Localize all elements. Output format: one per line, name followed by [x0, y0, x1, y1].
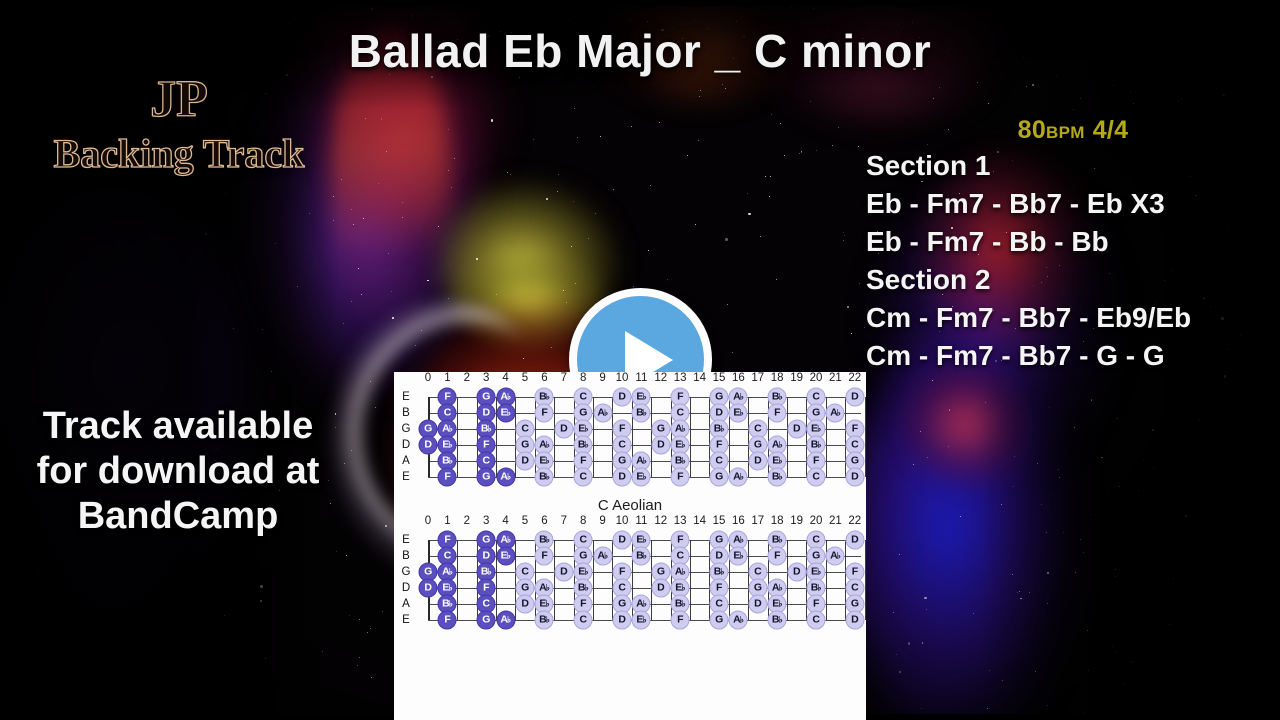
string-label-2: B: [396, 550, 416, 562]
fret-number-4: 4: [496, 372, 516, 384]
fret-number-9: 9: [593, 515, 613, 527]
chord-line-2: Eb - Fm7 - Bb7 - Eb X3: [866, 185, 1280, 223]
string-label-5: A: [396, 598, 416, 610]
fret-note-top-s6-f1: F: [438, 468, 457, 487]
string-label-column-top: EBGDAE: [396, 389, 416, 493]
string-label-3: G: [396, 566, 416, 578]
tempo-unit: BPM: [1046, 123, 1085, 142]
fret-note-bot-s4-f0: D: [419, 579, 438, 598]
fret-note-top-s2-f9: A♭: [593, 404, 612, 423]
fret-number-13: 13: [670, 515, 690, 527]
letterbox-bar-top: [0, 0, 1280, 6]
page-title: Ballad Eb Major _ C minor: [0, 24, 1280, 78]
fret-note-bot-s5-f17: D: [748, 595, 767, 614]
fret-note-bot-s6-f16: A♭: [729, 611, 748, 630]
chord-line-1: Section 1: [866, 147, 1280, 185]
fret-note-top-s5-f5: D: [516, 452, 535, 471]
fret-wire-1: [457, 540, 458, 620]
fret-number-22: 22: [845, 515, 865, 527]
chord-progression-list: Section 1Eb - Fm7 - Bb7 - Eb X3Eb - Fm7 …: [866, 147, 1280, 375]
fretboard-grid-bottom: EBGDAE FGA♭B♭CDE♭FGA♭B♭CDCDE♭FGA♭B♭CDE♭F…: [418, 532, 866, 636]
chord-line-5: Cm - Fm7 - Bb7 - Eb9/Eb: [866, 299, 1280, 337]
fret-note-bot-s6-f1: F: [438, 611, 457, 630]
fret-number-10: 10: [612, 515, 632, 527]
fret-note-top-s2-f6: F: [535, 404, 554, 423]
fret-number-20: 20: [806, 515, 826, 527]
fret-note-top-s6-f6: B♭: [535, 468, 554, 487]
fret-note-bot-s6-f3: G: [477, 611, 496, 630]
fret-number-9: 9: [593, 372, 613, 384]
fret-note-bot-s6-f4: A♭: [496, 611, 515, 630]
fret-number-2: 2: [457, 515, 477, 527]
fret-note-bot-s2-f18: F: [768, 547, 787, 566]
fret-note-bot-s6-f18: B♭: [768, 611, 787, 630]
fret-note-top-s6-f20: C: [807, 468, 826, 487]
chord-chart: 80BPM4/4 Section 1Eb - Fm7 - Bb7 - Eb X3…: [866, 116, 1280, 375]
fret-note-top-s1-f10: D: [613, 388, 632, 407]
fret-note-top-s6-f11: E♭: [632, 468, 651, 487]
string-label-2: B: [396, 407, 416, 419]
fret-note-top-s6-f22: D: [845, 468, 864, 487]
fret-number-7: 7: [554, 372, 574, 384]
fret-note-top-s2-f21: A♭: [826, 404, 845, 423]
fret-note-bot-s5-f5: D: [516, 595, 535, 614]
promo-line-3: BandCamp: [10, 494, 346, 539]
fret-number-0: 0: [418, 372, 438, 384]
fret-number-20: 20: [806, 372, 826, 384]
fret-wire-22: [865, 540, 866, 620]
fret-number-8: 8: [573, 372, 593, 384]
scale-name-label: C Aeolian: [394, 493, 866, 515]
fret-number-14: 14: [690, 372, 710, 384]
string-label-column-bottom: EBGDAE: [396, 532, 416, 636]
fret-number-2: 2: [457, 372, 477, 384]
time-signature: 4/4: [1093, 116, 1129, 144]
fret-note-top-s1-f22: D: [845, 388, 864, 407]
fret-note-top-s2-f11: B♭: [632, 404, 651, 423]
fret-number-11: 11: [631, 372, 651, 384]
video-frame: Ballad Eb Major _ C minor JP Backing Tra…: [0, 0, 1280, 720]
string-label-4: D: [396, 582, 416, 594]
string-label-6: E: [396, 471, 416, 483]
fret-number-row-top: 012345678910111213141516171819202122: [418, 372, 866, 389]
fret-note-bot-s2-f21: A♭: [826, 547, 845, 566]
fret-number-15: 15: [709, 372, 729, 384]
fret-note-bot-s1-f10: D: [613, 531, 632, 550]
brand-initials: JP: [150, 71, 208, 128]
fret-number-16: 16: [728, 515, 748, 527]
fret-number-row-bottom: 012345678910111213141516171819202122: [418, 515, 866, 532]
fret-note-bot-s1-f22: D: [845, 531, 864, 550]
fret-number-12: 12: [651, 515, 671, 527]
string-label-1: E: [396, 534, 416, 546]
fret-wire-18: [787, 540, 788, 620]
fret-number-18: 18: [767, 372, 787, 384]
fret-wire-11: [651, 540, 652, 620]
string-label-1: E: [396, 391, 416, 403]
fret-note-top-s2-f18: F: [768, 404, 787, 423]
fret-note-bot-s3-f19: D: [787, 563, 806, 582]
fret-note-top-s6-f18: B♭: [768, 468, 787, 487]
fret-number-6: 6: [534, 372, 554, 384]
fret-number-12: 12: [651, 372, 671, 384]
fret-number-16: 16: [728, 372, 748, 384]
tempo-and-meter: 80BPM4/4: [866, 116, 1280, 145]
fret-note-top-s6-f13: F: [671, 468, 690, 487]
fret-note-bot-s6-f20: C: [807, 611, 826, 630]
chord-line-4: Section 2: [866, 261, 1280, 299]
download-promo-text: Track available for download at BandCamp: [10, 404, 346, 538]
fret-note-top-s4-f12: D: [651, 436, 670, 455]
fret-note-bot-s2-f4: E♭: [496, 547, 515, 566]
fret-wire-1: [457, 397, 458, 477]
string-label-6: E: [396, 614, 416, 626]
fretboard-top: 012345678910111213141516171819202122 EBG…: [394, 372, 866, 493]
fret-note-top-s4-f0: D: [419, 436, 438, 455]
fret-note-top-s6-f3: G: [477, 468, 496, 487]
string-label-3: G: [396, 423, 416, 435]
fret-note-top-s6-f8: C: [574, 468, 593, 487]
string-label-5: A: [396, 455, 416, 467]
fret-number-18: 18: [767, 515, 787, 527]
fret-number-13: 13: [670, 372, 690, 384]
fret-note-top-s5-f17: D: [748, 452, 767, 471]
fret-number-10: 10: [612, 372, 632, 384]
tempo-value: 80: [1018, 116, 1046, 144]
fretboard-panel: 012345678910111213141516171819202122 EBG…: [394, 372, 866, 720]
brand-name: Backing Track: [14, 134, 344, 174]
fret-number-3: 3: [476, 372, 496, 384]
fret-note-top-s6-f4: A♭: [496, 468, 515, 487]
fret-note-bot-s2-f16: E♭: [729, 547, 748, 566]
fret-note-top-s3-f7: D: [554, 420, 573, 439]
fret-note-bot-s6-f11: E♭: [632, 611, 651, 630]
fret-note-bot-s6-f8: C: [574, 611, 593, 630]
fret-note-top-s6-f16: A♭: [729, 468, 748, 487]
promo-line-2: for download at: [10, 449, 346, 494]
fret-wire-11: [651, 397, 652, 477]
fret-number-21: 21: [825, 372, 845, 384]
fret-number-21: 21: [825, 515, 845, 527]
fret-number-17: 17: [748, 372, 768, 384]
fret-number-22: 22: [845, 372, 865, 384]
fret-note-bot-s6-f15: G: [710, 611, 729, 630]
fret-number-4: 4: [496, 515, 516, 527]
fret-number-1: 1: [437, 372, 457, 384]
fret-number-17: 17: [748, 515, 768, 527]
fret-note-bot-s6-f22: D: [845, 611, 864, 630]
fret-note-bot-s2-f9: A♭: [593, 547, 612, 566]
fret-number-0: 0: [418, 515, 438, 527]
fret-number-11: 11: [631, 515, 651, 527]
fret-note-bot-s6-f13: F: [671, 611, 690, 630]
fret-note-top-s6-f15: G: [710, 468, 729, 487]
fret-note-bot-s4-f12: D: [651, 579, 670, 598]
string-label-4: D: [396, 439, 416, 451]
fret-number-3: 3: [476, 515, 496, 527]
fret-number-8: 8: [573, 515, 593, 527]
fret-wire-18: [787, 397, 788, 477]
fret-number-14: 14: [690, 515, 710, 527]
fret-note-bot-s2-f6: F: [535, 547, 554, 566]
fret-wire-13: [690, 397, 691, 477]
fret-note-top-s3-f19: D: [787, 420, 806, 439]
fret-number-5: 5: [515, 515, 535, 527]
fret-number-19: 19: [787, 515, 807, 527]
fret-wire-22: [865, 397, 866, 477]
fret-wire-6: [554, 397, 555, 477]
brand-logo: JP Backing Track: [14, 74, 344, 174]
fret-note-top-s6-f10: D: [613, 468, 632, 487]
fret-note-bot-s6-f6: B♭: [535, 611, 554, 630]
fret-note-top-s2-f16: E♭: [729, 404, 748, 423]
fret-number-5: 5: [515, 372, 535, 384]
fret-number-15: 15: [709, 515, 729, 527]
fretboard-bottom: 012345678910111213141516171819202122 EBG…: [394, 515, 866, 636]
promo-line-1: Track available: [10, 404, 346, 449]
chord-line-6: Cm - Fm7 - Bb7 - G - G: [866, 337, 1280, 375]
chord-line-3: Eb - Fm7 - Bb - Bb: [866, 223, 1280, 261]
fret-number-19: 19: [787, 372, 807, 384]
fret-wire-6: [554, 540, 555, 620]
fret-note-bot-s2-f11: B♭: [632, 547, 651, 566]
fret-number-6: 6: [534, 515, 554, 527]
fret-number-7: 7: [554, 515, 574, 527]
fret-note-top-s2-f4: E♭: [496, 404, 515, 423]
fret-wire-13: [690, 540, 691, 620]
fret-note-bot-s3-f7: D: [554, 563, 573, 582]
fretboard-grid-top: EBGDAE FGA♭B♭CDE♭FGA♭B♭CDCDE♭FGA♭B♭CDE♭F…: [418, 389, 866, 493]
fret-number-1: 1: [437, 515, 457, 527]
fret-note-bot-s6-f10: D: [613, 611, 632, 630]
